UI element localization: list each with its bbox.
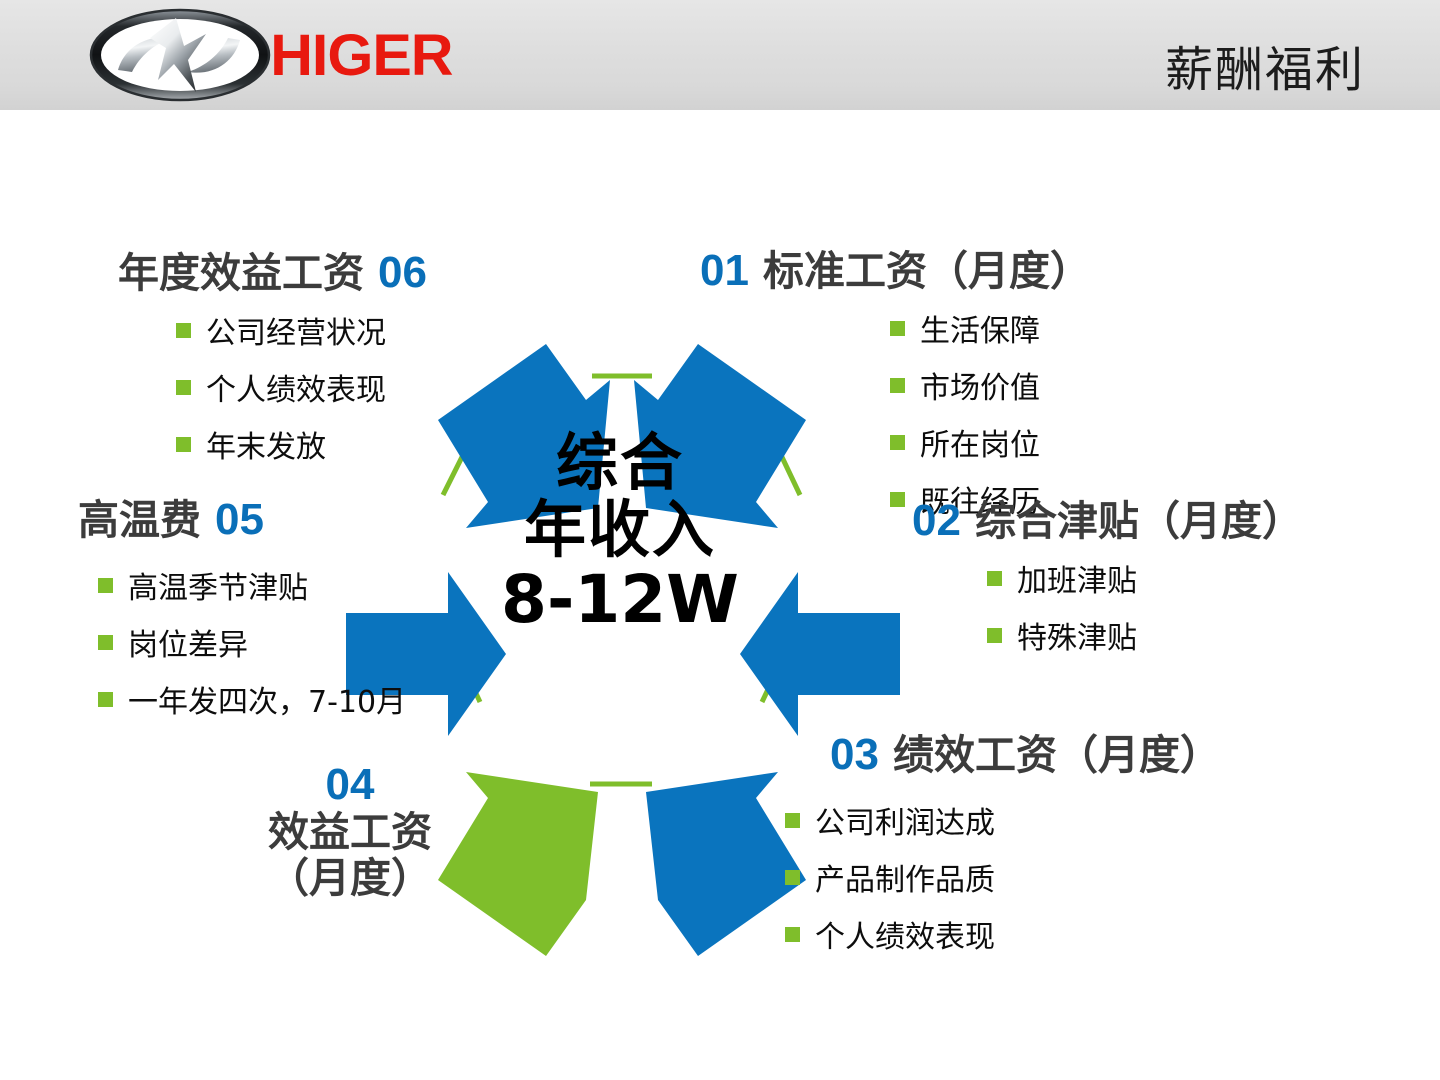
bullet-text: 加班津贴 [1017, 556, 1137, 600]
list-item: 个人绩效表现 [785, 912, 1221, 956]
item-04: 04 效益工资 （月度） [215, 760, 485, 902]
bullet-text: 特殊津贴 [1017, 613, 1137, 657]
bullet-square-icon [890, 321, 905, 336]
bullet-square-icon [98, 578, 113, 593]
list-item: 个人绩效表现 [176, 365, 441, 409]
list-item: 市场价值 [890, 363, 1091, 407]
item-06-headrow: 年度效益工资 06 [118, 248, 441, 298]
bullet-square-icon [785, 813, 800, 828]
bullet-square-icon [176, 437, 191, 452]
item-05-headrow: 高温费 05 [78, 495, 406, 545]
item-01-bullets: 生活保障 市场价值 所在岗位 既往经历 [890, 306, 1091, 521]
item-01-title: 标准工资（月度） [763, 249, 1091, 295]
center-line-3: 8-12W [460, 564, 780, 635]
bullet-square-icon [785, 870, 800, 885]
bullet-text: 年末发放 [206, 422, 326, 466]
bullet-text: 产品制作品质 [815, 855, 995, 899]
list-item: 生活保障 [890, 306, 1091, 350]
item-02-number: 02 [912, 496, 961, 546]
arrow-03 [646, 772, 806, 956]
item-05-title: 高温费 [78, 498, 201, 544]
bullet-square-icon [890, 435, 905, 450]
bullet-square-icon [785, 927, 800, 942]
item-03-number: 03 [830, 730, 879, 780]
list-item: 一年发四次，7-10月 [98, 677, 406, 721]
bullet-text: 个人绩效表现 [206, 365, 386, 409]
bullet-square-icon [98, 635, 113, 650]
bullet-square-icon [987, 628, 1002, 643]
bullet-square-icon [987, 571, 1002, 586]
bullet-text: 高温季节津贴 [128, 563, 308, 607]
item-06-bullets: 公司经营状况 个人绩效表现 年末发放 [176, 308, 441, 466]
brand-wordmark: HIGER [270, 22, 452, 89]
item-03: 03 绩效工资（月度） 公司利润达成 产品制作品质 个人绩效表现 [830, 730, 1221, 969]
item-04-title-line2: （月度） [215, 856, 485, 902]
item-03-bullets: 公司利润达成 产品制作品质 个人绩效表现 [785, 798, 1221, 956]
item-02-bullets: 加班津贴 特殊津贴 [987, 556, 1303, 657]
list-item: 公司利润达成 [785, 798, 1221, 842]
bullet-text: 公司利润达成 [815, 798, 995, 842]
bullet-text: 所在岗位 [920, 420, 1040, 464]
item-06: 年度效益工资 06 公司经营状况 个人绩效表现 年末发放 [118, 248, 441, 479]
bullet-text: 生活保障 [920, 306, 1040, 350]
list-item: 岗位差异 [98, 620, 406, 664]
item-01-headrow: 01 标准工资（月度） [700, 246, 1091, 296]
item-06-number: 06 [378, 248, 427, 298]
item-04-number: 04 [326, 760, 375, 809]
higer-logo [88, 8, 278, 103]
bullet-text: 一年发四次，7-10月 [128, 677, 406, 721]
hexagon-diagram: 综合 年收入 8-12W 年度效益工资 06 公司经营状况 个人绩效表现 年末发… [0, 110, 1440, 1080]
item-05-number: 05 [215, 495, 264, 545]
item-04-numrow: 04 [215, 760, 485, 810]
bullet-text: 公司经营状况 [206, 308, 386, 352]
item-02-title: 综合津贴（月度） [975, 499, 1303, 545]
list-item: 年末发放 [176, 422, 441, 466]
bullet-square-icon [98, 692, 113, 707]
bullet-text: 个人绩效表现 [815, 912, 995, 956]
item-01: 01 标准工资（月度） 生活保障 市场价值 所在岗位 既往经历 [700, 246, 1091, 534]
item-01-number: 01 [700, 246, 749, 296]
item-04-title-line1: 效益工资 [215, 810, 485, 856]
item-05-bullets: 高温季节津贴 岗位差异 一年发四次，7-10月 [98, 563, 406, 721]
item-03-headrow: 03 绩效工资（月度） [830, 730, 1221, 780]
bullet-square-icon [176, 323, 191, 338]
list-item: 特殊津贴 [987, 613, 1303, 657]
page-title: 薪酬福利 [1165, 30, 1365, 100]
list-item: 加班津贴 [987, 556, 1303, 600]
list-item: 产品制作品质 [785, 855, 1221, 899]
item-03-title: 绩效工资（月度） [893, 733, 1221, 779]
item-05: 高温费 05 高温季节津贴 岗位差异 一年发四次，7-10月 [78, 495, 406, 734]
item-02-headrow: 02 综合津贴（月度） [912, 496, 1303, 546]
bullet-square-icon [890, 492, 905, 507]
list-item: 高温季节津贴 [98, 563, 406, 607]
slide-header: HIGER 薪酬福利 [0, 0, 1440, 110]
list-item: 所在岗位 [890, 420, 1091, 464]
higer-oval-emblem-icon [88, 8, 273, 103]
bullet-square-icon [176, 380, 191, 395]
bullet-text: 岗位差异 [128, 620, 248, 664]
item-06-title: 年度效益工资 [118, 251, 364, 297]
bullet-square-icon [890, 378, 905, 393]
bullet-text: 市场价值 [920, 363, 1040, 407]
item-02: 02 综合津贴（月度） 加班津贴 特殊津贴 [912, 496, 1303, 670]
list-item: 公司经营状况 [176, 308, 441, 352]
